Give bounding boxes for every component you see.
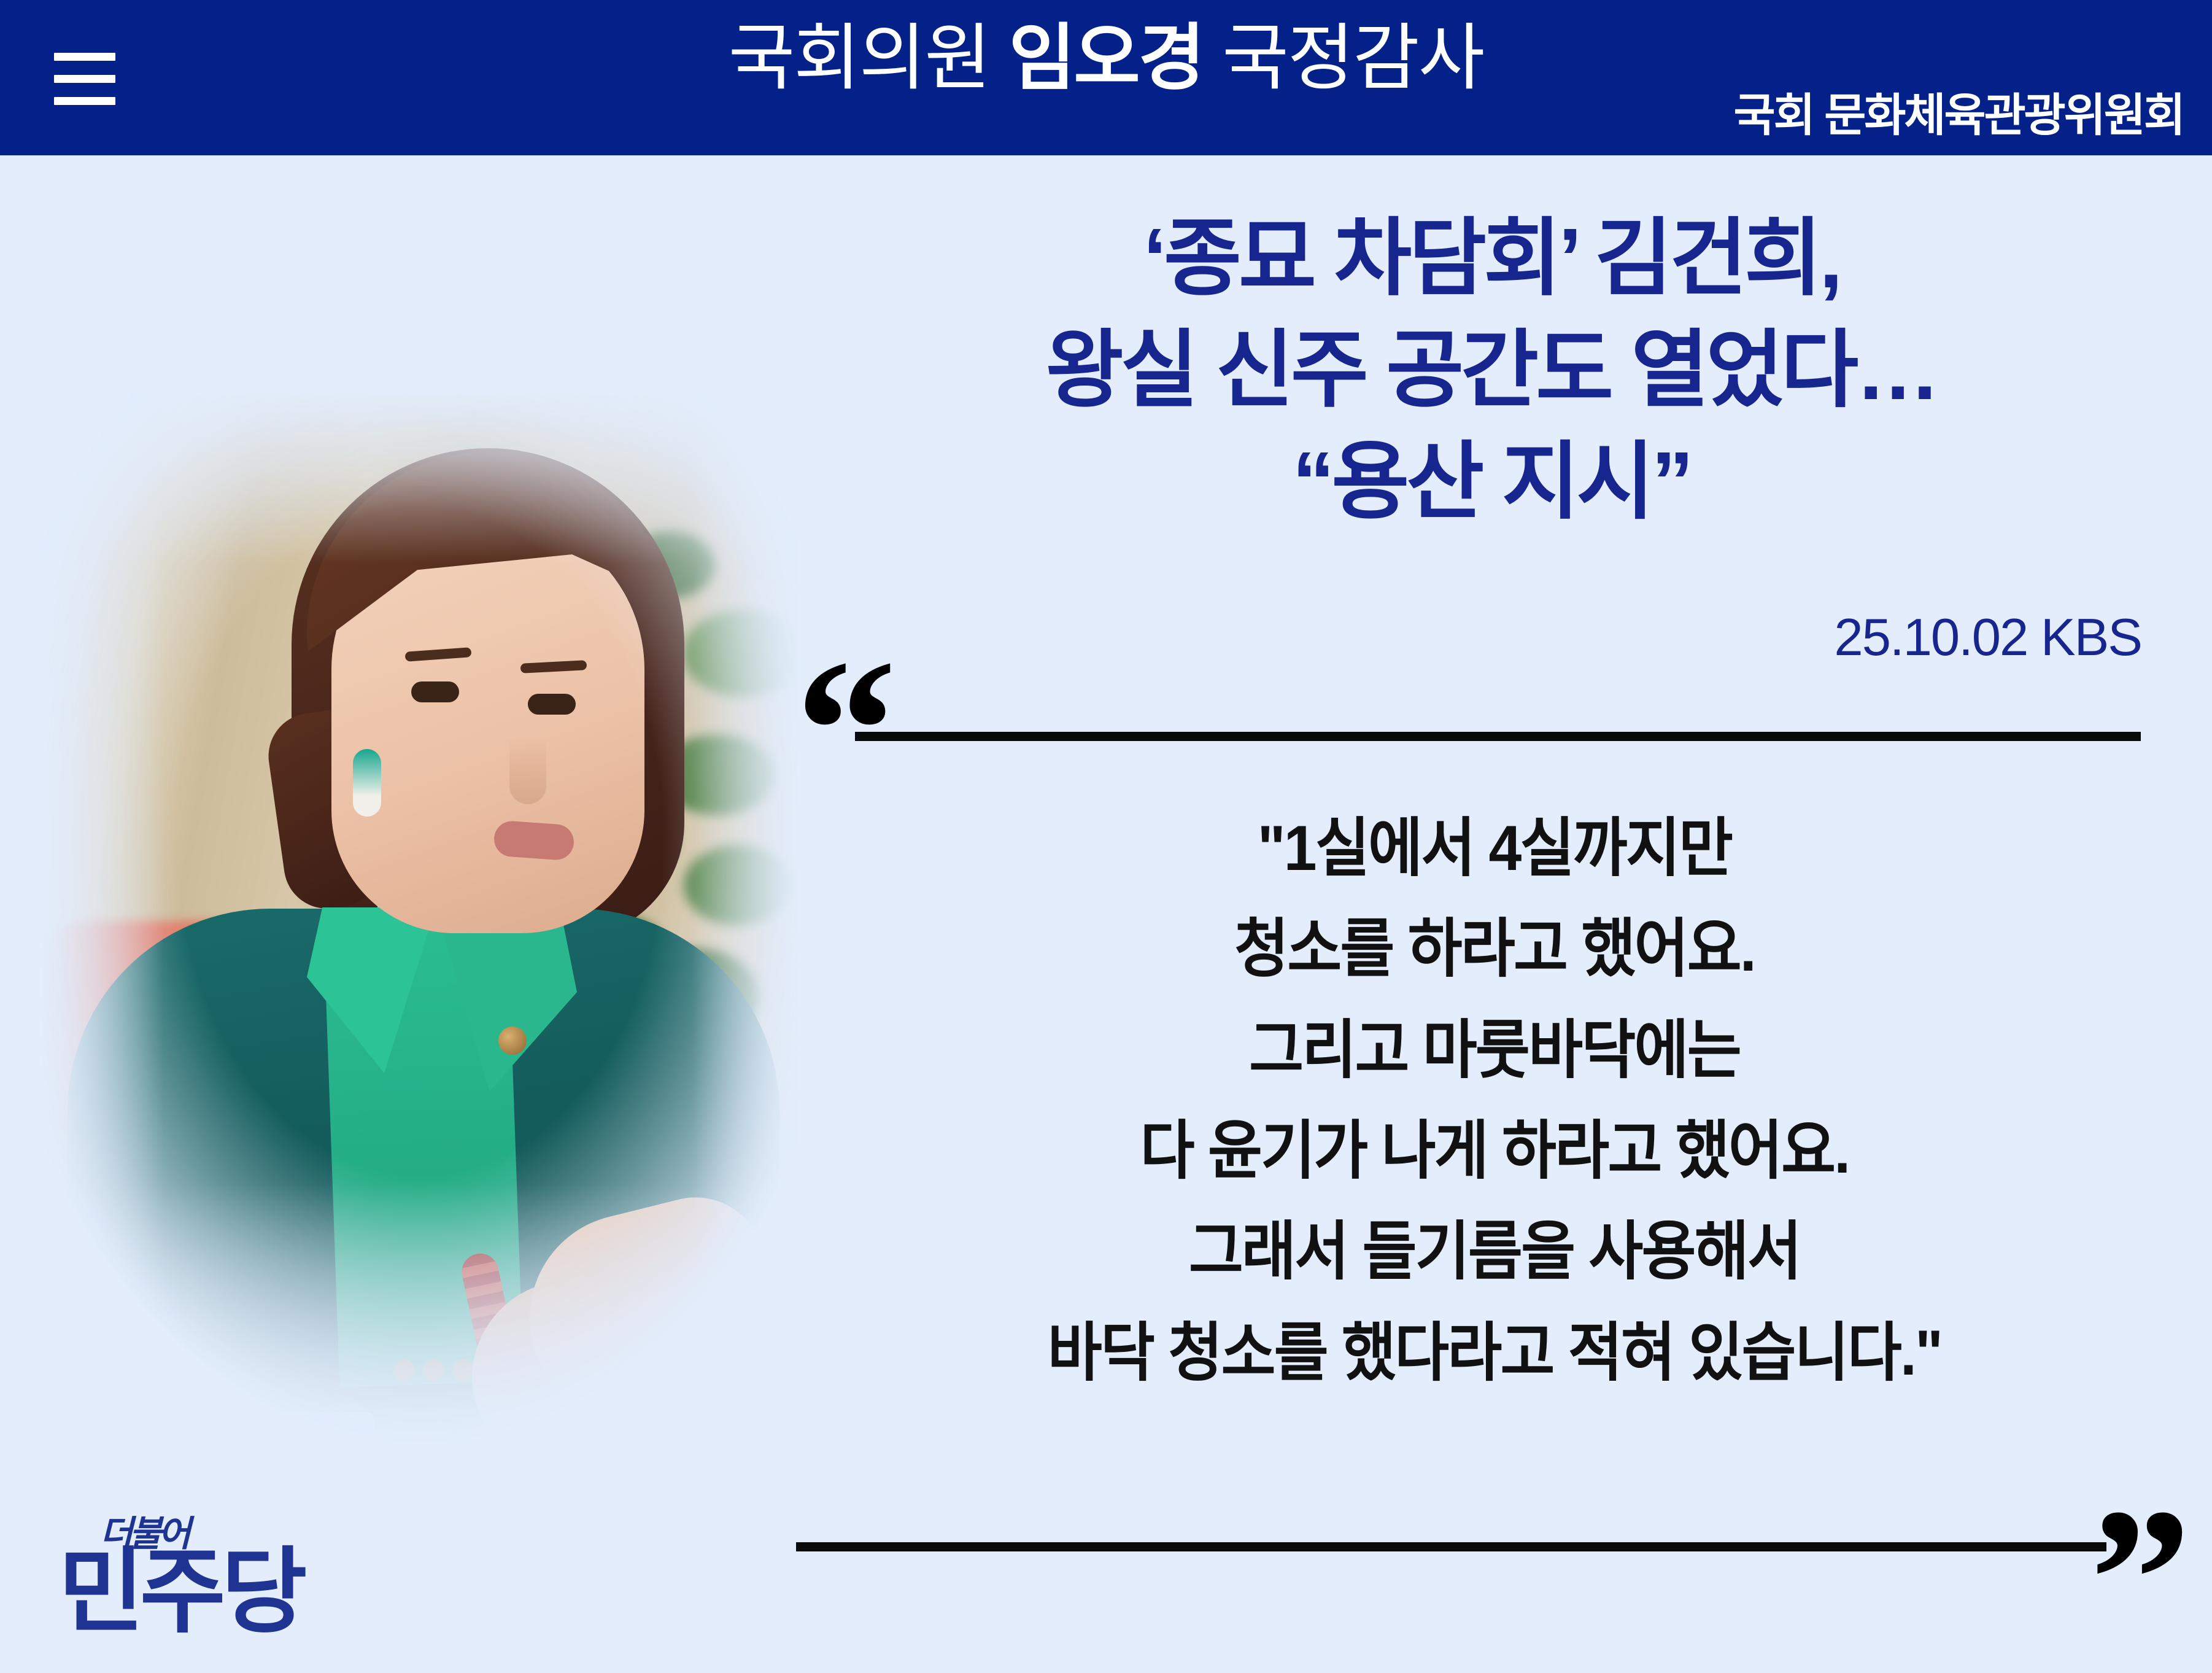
party-logo: 더불어 민주당 [58, 1516, 316, 1648]
quote-rule-bottom [796, 1542, 2106, 1551]
photo-nose [509, 737, 546, 804]
quote-open-icon: “ [795, 629, 869, 771]
photo-brooch [498, 1027, 527, 1055]
quote-body: "1실에서 4실까지만 청소를 하라고 했어요. 그리고 마룻바닥에는 다 윤기… [864, 798, 2125, 1403]
source-credit: 25.10.02 KBS [1834, 608, 2141, 668]
headline: ‘종묘 차담회’ 김건희, 왕실 신주 공간도 열었다… “용산 지시” [816, 203, 2167, 538]
photo-eye-right [528, 694, 576, 715]
header-bar: 국회의원 임오경 국정감사 국회 문화체육관광위원회 [0, 0, 2212, 155]
photo-mouth [493, 820, 575, 861]
card-news-canvas: 국회의원 임오경 국정감사 국회 문화체육관광위원회 ‘종묘 차담회’ 김건희,… [0, 0, 2212, 1673]
title-suffix: 국정감사 [1203, 18, 1483, 99]
member-photo [43, 393, 798, 1461]
photo-earring [353, 749, 381, 817]
title-member-name: 임오경 [1009, 18, 1204, 99]
party-logo-name: 민주당 [58, 1543, 303, 1642]
quote-rule-top [855, 732, 2141, 741]
quote-close-icon: ” [2090, 1478, 2176, 1620]
title-prefix: 국회의원 [729, 18, 1009, 99]
photo-eye-left [411, 681, 459, 702]
photo-cup [227, 1412, 374, 1461]
committee-label: 국회 문화체육관광위원회 [1734, 79, 2184, 144]
